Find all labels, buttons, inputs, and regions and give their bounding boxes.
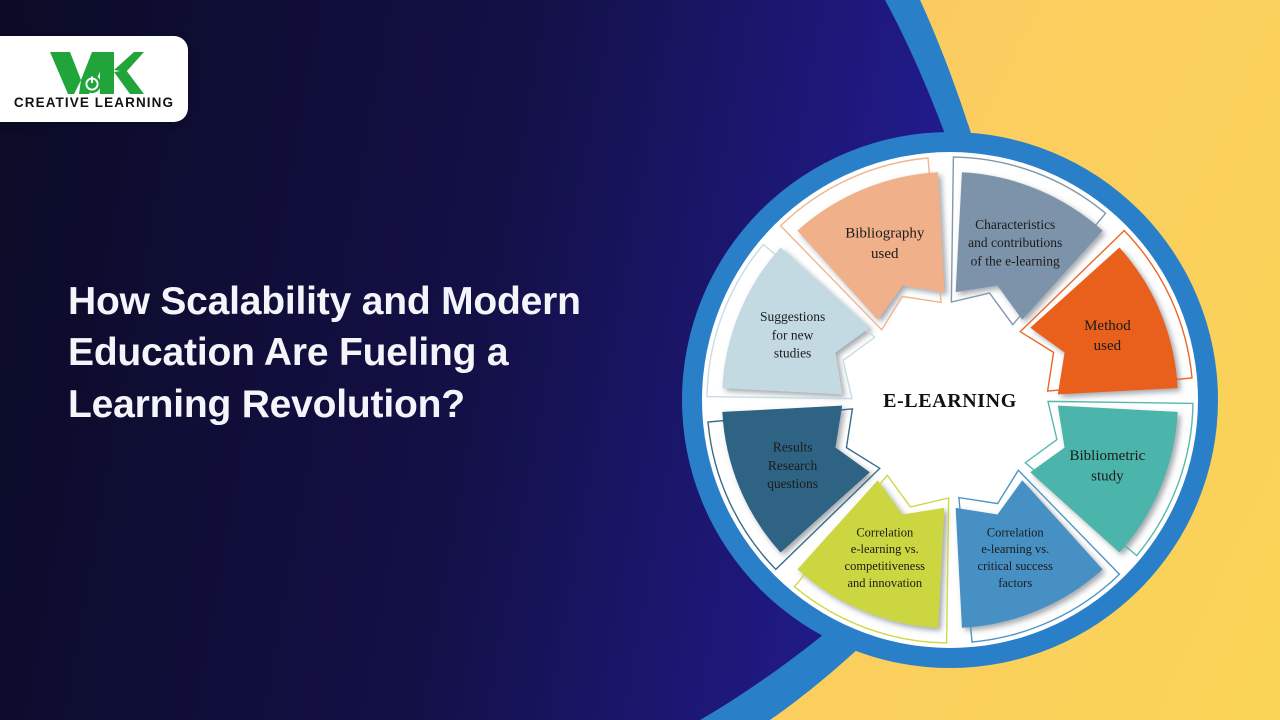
wheel-segment-label-results-research-questions: ResultsResearchquestions (767, 440, 818, 491)
slide-canvas: CREATIVE LEARNING How Scalability and Mo… (0, 0, 1280, 720)
brand-logo-card[interactable]: CREATIVE LEARNING (0, 36, 188, 122)
brand-tagline: CREATIVE LEARNING (14, 95, 174, 110)
wheel-center-label: E-LEARNING (883, 390, 1017, 412)
vk-logo-icon (44, 48, 144, 94)
wheel-segment-label-characteristics: Characteristicsand contributionsof the e… (968, 217, 1062, 268)
page-title: How Scalability and Modern Education Are… (68, 276, 598, 430)
elearning-wheel-diagram: E-LEARNING Characteristicsand contributi… (676, 126, 1224, 674)
